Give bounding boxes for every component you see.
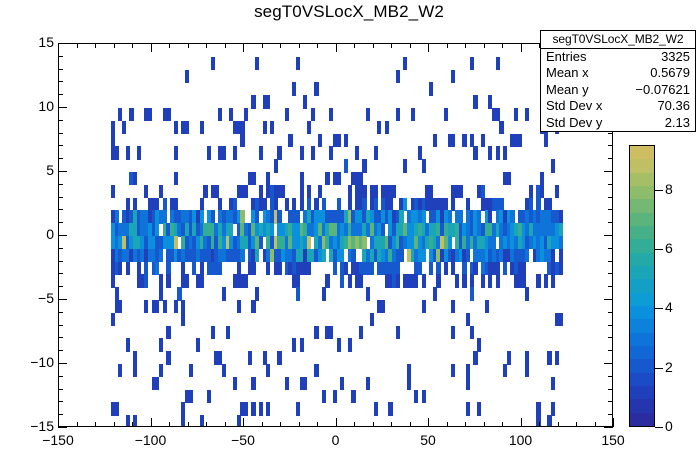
y-axis-right-minor-tick [608, 389, 613, 390]
heatmap-cell [414, 274, 418, 287]
heatmap-cell [477, 402, 481, 415]
heatmap-cell [296, 57, 300, 70]
x-axis-top-minor-tick [502, 43, 503, 48]
heatmap-cell [348, 185, 352, 198]
y-axis-tick-label: 10 [8, 98, 54, 114]
heatmap-cell [470, 326, 474, 339]
heatmap-cell [340, 377, 344, 390]
heatmap-cell [444, 108, 448, 121]
color-scale-band [630, 279, 654, 293]
color-scale-band [630, 293, 654, 307]
x-axis-top-major-tick [336, 43, 337, 52]
x-axis-minor-tick [225, 422, 226, 427]
heatmap-cell [314, 364, 318, 377]
y-axis-right-minor-tick [608, 158, 613, 159]
heatmap-cell [274, 159, 278, 172]
heatmap-cell [263, 198, 267, 211]
x-axis-top-minor-tick [77, 43, 78, 48]
heatmap-cell [152, 377, 156, 390]
heatmap-cell [551, 402, 555, 415]
y-axis-right-minor-tick [608, 133, 613, 134]
heatmap-cell [200, 210, 204, 223]
color-scale-band [630, 333, 654, 347]
y-axis-tick-label: −10 [8, 354, 54, 370]
heatmap-cell [555, 185, 559, 198]
heatmap-cell [222, 287, 226, 300]
heatmap-cell [547, 351, 551, 364]
heatmap-cell [155, 198, 159, 211]
heatmap-cell [551, 274, 555, 287]
x-axis-top-minor-tick [465, 43, 466, 48]
y-axis-right-minor-tick [608, 273, 613, 274]
heatmap-cell [348, 338, 352, 351]
y-axis-tick-label: −15 [8, 418, 54, 434]
x-axis-minor-tick [465, 422, 466, 427]
color-scale-tick-label: 2 [665, 359, 673, 375]
heatmap-cell [422, 274, 426, 287]
heatmap-cell [462, 262, 466, 275]
heatmap-cell [362, 198, 366, 211]
heatmap-cell [251, 172, 255, 185]
heatmap-cell [551, 249, 555, 262]
stats-row-key: Mean y [546, 82, 589, 98]
y-axis-minor-tick [58, 184, 63, 185]
x-axis-tick-label: 100 [491, 432, 551, 448]
root-canvas: segT0VSLocX_MB2_W2 segT0VSLocX_MB2_W2 En… [0, 0, 698, 476]
x-axis-minor-tick [262, 422, 263, 427]
heatmap-cell [237, 262, 241, 275]
heatmap-cell [163, 300, 167, 313]
heatmap-cell [251, 300, 255, 313]
heatmap-cell [536, 198, 540, 211]
heatmap-cell [300, 146, 304, 159]
heatmap-cell [462, 274, 466, 287]
heatmap-cell [470, 274, 474, 287]
x-axis-major-tick [521, 418, 522, 427]
heatmap-cell [166, 351, 170, 364]
heatmap-cell [466, 402, 470, 415]
y-axis-tick-label: −5 [8, 290, 54, 306]
color-scale-band [630, 319, 654, 333]
color-scale-band [630, 186, 654, 200]
heatmap-cell [263, 351, 267, 364]
heatmap-cell [366, 287, 370, 300]
heatmap-cell [470, 287, 474, 300]
heatmap-cell [547, 415, 551, 426]
heatmap-cell [559, 249, 563, 262]
x-axis-top-major-tick [243, 43, 244, 52]
heatmap-cell [292, 82, 296, 95]
heatmap-cell [488, 95, 492, 108]
color-scale-tick [655, 368, 663, 369]
heatmap-cell [174, 236, 178, 249]
heatmap-cell [481, 185, 485, 198]
heatmap-cell [451, 326, 455, 339]
x-axis-minor-tick [391, 422, 392, 427]
heatmap-cell [266, 172, 270, 185]
heatmap-cell [377, 121, 381, 134]
heatmap-cell [559, 223, 563, 236]
heatmap-cell [185, 70, 189, 83]
heatmap-cell [222, 146, 226, 159]
heatmap-cell [255, 249, 259, 262]
heatmap-cell [174, 121, 178, 134]
y-axis-minor-tick [58, 389, 63, 390]
y-axis-right-major-tick [604, 363, 613, 364]
y-axis-right-minor-tick [608, 337, 613, 338]
heatmap-cell [307, 121, 311, 134]
heatmap-cell [414, 390, 418, 403]
heatmap-cell [329, 326, 333, 339]
color-scale-axis: 02468 [655, 145, 697, 427]
x-axis-top-minor-tick [447, 43, 448, 48]
heatmap-cell [451, 262, 455, 275]
heatmap-cell [244, 274, 248, 287]
y-axis-minor-tick [58, 158, 63, 159]
heatmap-cell [118, 108, 122, 121]
heatmap-cell [507, 172, 511, 185]
heatmap-cell [263, 95, 267, 108]
color-scale-band [630, 399, 654, 413]
heatmap-cell [459, 185, 463, 198]
x-axis-top-minor-tick [484, 43, 485, 48]
heatmap-cell [351, 249, 355, 262]
heatmap-cell [263, 121, 267, 134]
heatmap-cell [240, 134, 244, 147]
heatmap-cell [296, 274, 300, 287]
heatmap-cell [559, 236, 563, 249]
heatmap-cell [496, 146, 500, 159]
x-axis-minor-tick [484, 422, 485, 427]
heatmap-cell [181, 262, 185, 275]
x-axis-top-minor-tick [391, 43, 392, 48]
heatmap-cell [496, 57, 500, 70]
heatmap-cell [340, 274, 344, 287]
heatmap-cell [307, 236, 311, 249]
heatmap-cell [355, 146, 359, 159]
heatmap-cell [266, 95, 270, 108]
heatmap-cell [359, 172, 363, 185]
y-axis-right-minor-tick [608, 197, 613, 198]
heatmap-cell [492, 236, 496, 249]
y-axis-tick-label: 15 [8, 34, 54, 50]
heatmap-cell [229, 108, 233, 121]
heatmap-cell [451, 364, 455, 377]
heatmap-cell [166, 326, 170, 339]
y-axis-right-major-tick [604, 171, 613, 172]
heatmap-cell [407, 364, 411, 377]
heatmap-cell [337, 134, 341, 147]
heatmap-cell [118, 262, 122, 275]
heatmap-cell [547, 198, 551, 211]
x-axis-major-tick [428, 418, 429, 427]
stats-row: Mean y−0.07621 [541, 82, 695, 98]
heatmap-cell [529, 198, 533, 211]
heatmap-cell [451, 198, 455, 211]
heatmap-cell [485, 300, 489, 313]
heatmap-cell [522, 274, 526, 287]
y-axis-tick-label: 5 [8, 162, 54, 178]
heatmap-cell [144, 300, 148, 313]
heatmap-cell [248, 351, 252, 364]
heatmap-cell [488, 146, 492, 159]
heatmap-cell [481, 274, 485, 287]
x-axis-minor-tick [410, 422, 411, 427]
heatmap-cell [348, 198, 352, 211]
heatmap-cell [496, 274, 500, 287]
heatmap-cell [403, 159, 407, 172]
x-axis-minor-tick [447, 422, 448, 427]
heatmap-cell [259, 146, 263, 159]
heatmap-cell [344, 134, 348, 147]
heatmap-cell [189, 364, 193, 377]
heatmap-cell [133, 198, 137, 211]
heatmap-cell [226, 326, 230, 339]
x-axis-top-minor-tick [317, 43, 318, 48]
heatmap-cell [300, 338, 304, 351]
heatmap-cell [448, 210, 452, 223]
heatmap-cell [115, 287, 119, 300]
heatmap-cell [433, 287, 437, 300]
y-axis-minor-tick [58, 401, 63, 402]
stats-row: Std Dev y2.13 [541, 115, 695, 131]
heatmap-cell [155, 377, 159, 390]
y-axis-right-minor-tick [608, 401, 613, 402]
x-axis-minor-tick [77, 422, 78, 427]
x-axis-minor-tick [576, 422, 577, 427]
heatmap-cell [115, 210, 119, 223]
color-scale-tick [655, 427, 663, 428]
heatmap-cell [155, 262, 159, 275]
heatmap-cell [233, 377, 237, 390]
x-axis-tick-label: 0 [306, 432, 366, 448]
heatmap-cell [366, 377, 370, 390]
heatmap-cell [237, 121, 241, 134]
heatmap-cell [229, 223, 233, 236]
heatmap-cell [510, 210, 514, 223]
heatmap-cell [266, 402, 270, 415]
heatmap-cell [240, 249, 244, 262]
heatmap-cell [314, 198, 318, 211]
heatmap-cell [399, 210, 403, 223]
heatmap-cell [181, 121, 185, 134]
heatmap-cell [337, 172, 341, 185]
heatmap-cell [481, 134, 485, 147]
heatmap-cell [536, 402, 540, 415]
heatmap-cell [307, 185, 311, 198]
y-axis-right-minor-tick [608, 312, 613, 313]
heatmap-cell [381, 223, 385, 236]
heatmap-cell [133, 351, 137, 364]
heatmap-cell [270, 223, 274, 236]
y-axis-right-major-tick [604, 427, 613, 428]
heatmap-cell [277, 210, 281, 223]
y-axis-minor-tick [58, 94, 63, 95]
heatmap-cell [133, 415, 137, 426]
heatmap-cell [418, 146, 422, 159]
y-axis-right-major-tick [604, 235, 613, 236]
heatmap-cell [503, 364, 507, 377]
color-scale-band [630, 239, 654, 253]
heatmap-cell [296, 210, 300, 223]
heatmap-cell [451, 134, 455, 147]
heatmap-cell [385, 121, 389, 134]
y-axis-minor-tick [58, 197, 63, 198]
color-scale-band [630, 266, 654, 280]
heatmap-cell [244, 185, 248, 198]
heatmap-cell [322, 287, 326, 300]
heatmap-cell [189, 390, 193, 403]
x-axis-minor-tick [188, 422, 189, 427]
color-scale-band [630, 386, 654, 400]
color-scale-band [630, 359, 654, 373]
y-axis-minor-tick [58, 376, 63, 377]
x-axis-top-minor-tick [262, 43, 263, 48]
heatmap-cell [418, 262, 422, 275]
x-axis-major-tick [336, 418, 337, 427]
heatmap-cell [259, 185, 263, 198]
x-axis-major-tick [58, 418, 59, 427]
heatmap-cell [396, 274, 400, 287]
heatmap-cell [277, 146, 281, 159]
heatmap-cell [359, 326, 363, 339]
x-axis-minor-tick [558, 422, 559, 427]
heatmap-cell [333, 390, 337, 403]
heatmap-cell [207, 390, 211, 403]
heatmap-cell [196, 338, 200, 351]
stats-row-key: Mean x [546, 65, 589, 81]
heatmap-cell [451, 70, 455, 83]
x-axis-top-minor-tick [132, 43, 133, 48]
x-axis-top-major-tick [58, 43, 59, 52]
y-axis-tick-label: 0 [8, 226, 54, 242]
heatmap-cell [181, 402, 185, 415]
heatmap-cell [325, 326, 329, 339]
heatmap-cell [126, 415, 130, 426]
heatmap-cell [296, 287, 300, 300]
heatmap-cell [333, 262, 337, 275]
heatmap-cell [374, 146, 378, 159]
heatmap-cell [118, 300, 122, 313]
heatmap-cell [536, 274, 540, 287]
heatmap-cell [429, 185, 433, 198]
heatmap-cell [159, 364, 163, 377]
heatmap-cell [455, 274, 459, 287]
stats-row: Std Dev x70.36 [541, 98, 695, 114]
heatmap-cell [314, 82, 318, 95]
x-axis-tick-label: −50 [213, 432, 273, 448]
y-axis-minor-tick [58, 81, 63, 82]
y-axis-minor-tick [58, 120, 63, 121]
heatmap-cell [403, 57, 407, 70]
heatmap-cell [348, 274, 352, 287]
heatmap-cell [362, 236, 366, 249]
heatmap-cell [111, 274, 115, 287]
x-axis-top-major-tick [521, 43, 522, 52]
heatmap-cell [218, 351, 222, 364]
heatmap-cell [396, 70, 400, 83]
color-scale-tick-label: 8 [665, 181, 673, 197]
heatmap-cell [129, 108, 133, 121]
heatmap-cell [422, 390, 426, 403]
heatmap-cell [436, 262, 440, 275]
heatmap-cell [518, 134, 522, 147]
y-axis-minor-tick [58, 248, 63, 249]
heatmap-cell [292, 338, 296, 351]
heatmap-cell [344, 159, 348, 172]
heatmap-cell [300, 198, 304, 211]
heatmap-cell [322, 390, 326, 403]
stats-row-value: 0.5679 [650, 65, 690, 81]
heatmap-cell [444, 198, 448, 211]
color-scale-bar [629, 145, 655, 427]
heatmap-cell [496, 108, 500, 121]
heatmap-cell [540, 172, 544, 185]
x-axis-minor-tick [539, 422, 540, 427]
heatmap-cell [422, 300, 426, 313]
y-axis-minor-tick [58, 325, 63, 326]
heatmap-cell [251, 377, 255, 390]
heatmap-cell [274, 198, 278, 211]
heatmap-cell [525, 351, 529, 364]
y-axis-minor-tick [58, 273, 63, 274]
x-axis-minor-tick [206, 422, 207, 427]
color-scale-band [630, 346, 654, 360]
heatmap-cell [329, 108, 333, 121]
heatmap-cell [492, 108, 496, 121]
heatmap-cell [503, 262, 507, 275]
y-axis-right-minor-tick [608, 414, 613, 415]
heatmap-cell [396, 108, 400, 121]
heatmap-cell [126, 338, 130, 351]
x-axis-top-minor-tick [280, 43, 281, 48]
x-axis-minor-tick [595, 422, 596, 427]
heatmap-cell [303, 377, 307, 390]
heatmap-cell [422, 249, 426, 262]
heatmap-cell [318, 185, 322, 198]
heatmap-cell [218, 146, 222, 159]
y-axis-right-minor-tick [608, 286, 613, 287]
heatmap-cell [503, 146, 507, 159]
heatmap-cell [388, 198, 392, 211]
y-axis-minor-tick [58, 133, 63, 134]
color-scale-tick [655, 190, 663, 191]
x-axis-tick-label: 50 [398, 432, 458, 448]
color-scale-band [630, 173, 654, 187]
y-axis-right-minor-tick [608, 209, 613, 210]
heatmap-cell [233, 146, 237, 159]
heatmap-cell [163, 108, 167, 121]
color-scale-band [630, 306, 654, 320]
heatmap-cell [233, 121, 237, 134]
heatmap-cell [333, 134, 337, 147]
heatmap-cell [551, 159, 555, 172]
heatmap-cell [200, 415, 204, 426]
stats-row-value: 2.13 [665, 115, 690, 131]
heatmap-cell [255, 210, 259, 223]
heatmap-cell [403, 198, 407, 211]
heatmap-cell [374, 198, 378, 211]
heatmap-cell [462, 134, 466, 147]
y-axis-right-minor-tick [608, 145, 613, 146]
heatmap-cell [277, 262, 281, 275]
heatmap-cell [488, 210, 492, 223]
heatmap-cell [159, 185, 163, 198]
heatmap-cell [181, 300, 185, 313]
y-axis-minor-tick [58, 350, 63, 351]
heatmap-cell [307, 262, 311, 275]
x-axis-top-minor-tick [206, 43, 207, 48]
